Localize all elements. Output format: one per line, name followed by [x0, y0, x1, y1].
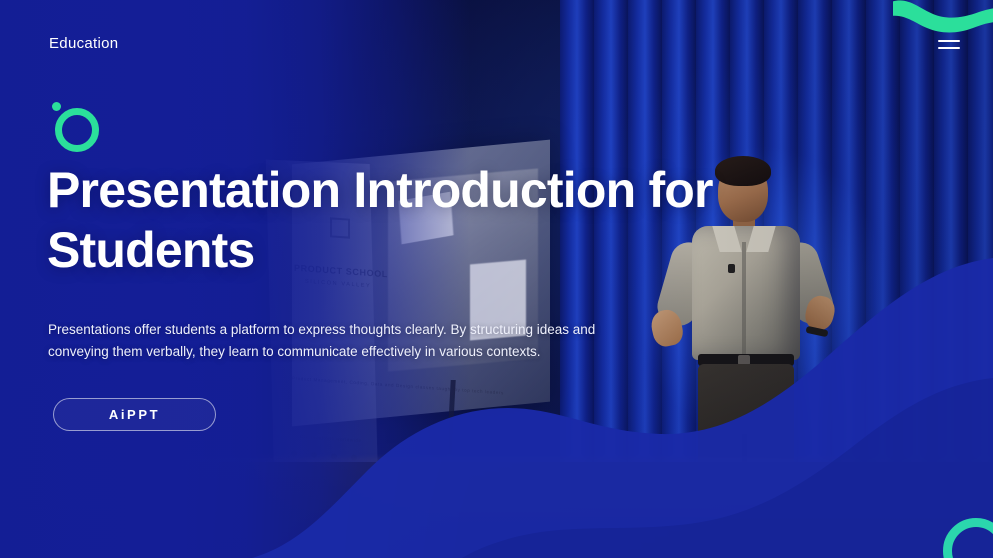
- slide-root: PRODUCT SCHOOL SILICON VALLEY Product Ma…: [0, 0, 993, 558]
- menu-line-2: [938, 47, 960, 49]
- hamburger-menu-icon[interactable]: [938, 38, 960, 54]
- top-bar: Education: [0, 0, 993, 90]
- aippt-button[interactable]: AiPPT: [53, 398, 216, 431]
- category-label: Education: [49, 35, 118, 52]
- slide-content: Education Presentation Introduction for …: [0, 0, 993, 558]
- page-title: Presentation Introduction for Students: [47, 160, 747, 280]
- menu-line-1: [938, 40, 960, 42]
- hero-description: Presentations offer students a platform …: [48, 319, 638, 363]
